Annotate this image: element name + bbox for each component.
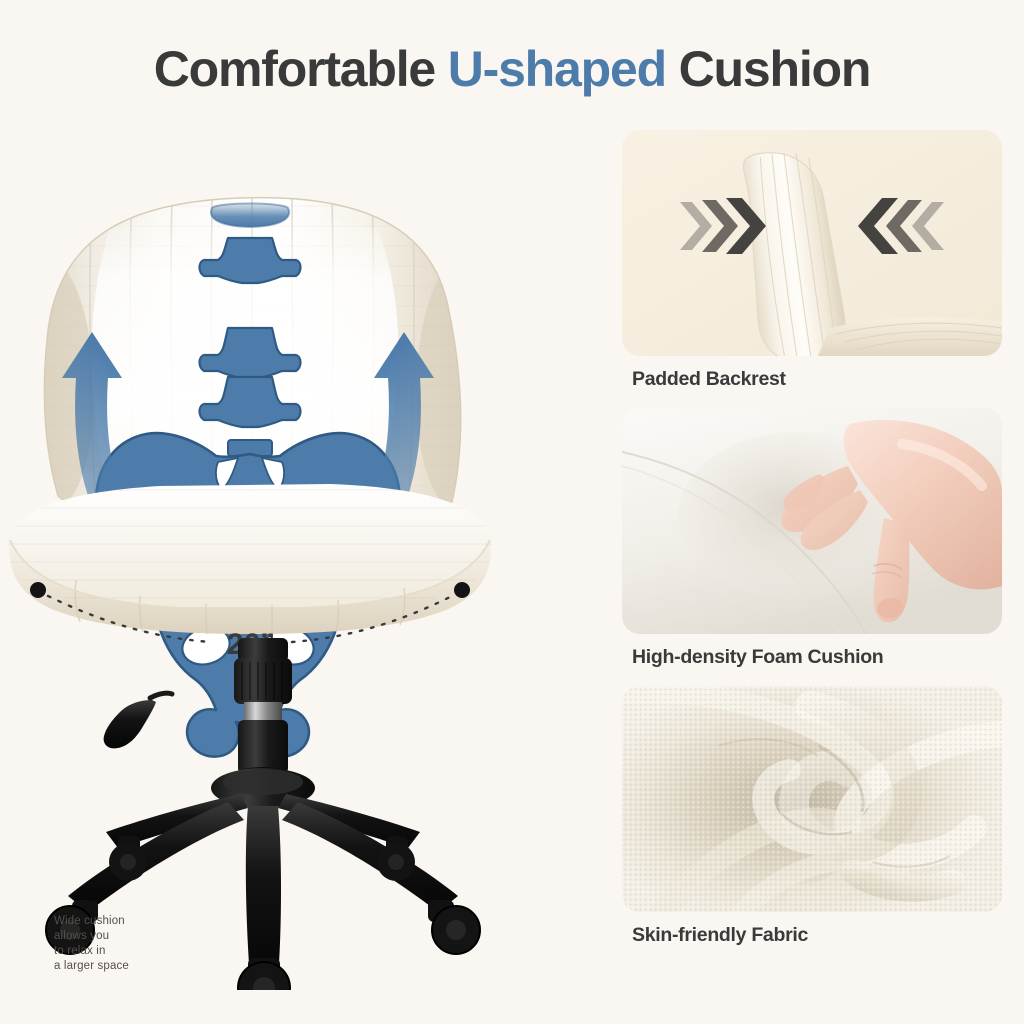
- feature-skin-friendly-fabric[interactable]: Skin-friendly Fabric: [622, 686, 1002, 947]
- foam-cushion-caption: High-density Foam Cushion: [622, 646, 1002, 669]
- caster: [238, 958, 290, 990]
- note-line-3: to relax in: [54, 944, 129, 959]
- fabric-caption: Skin-friendly Fabric: [622, 924, 1002, 947]
- product-feature-page: Comfortable U-shaped Cushion: [0, 0, 1024, 1024]
- padded-backrest-caption: Padded Backrest: [622, 368, 1002, 391]
- height-adjust-lever[interactable]: [104, 693, 172, 748]
- fabric-weave-texture: [622, 686, 1002, 912]
- note-line-2: allows you: [54, 929, 129, 944]
- caster: [428, 900, 480, 954]
- base-leg: [246, 806, 281, 978]
- title-part-1: Comfortable: [154, 41, 448, 97]
- foam-cushion-image: [622, 408, 1002, 634]
- chair-seat: [0, 484, 500, 634]
- wide-cushion-note: Wide cushion allows you to relax in a la…: [54, 914, 129, 974]
- page-title: Comfortable U-shaped Cushion: [0, 40, 1024, 98]
- feature-foam-cushion[interactable]: High-density Foam Cushion: [622, 408, 1002, 669]
- title-part-2: Cushion: [666, 41, 870, 97]
- feature-panel-list: Padded Backrest: [622, 130, 1002, 964]
- note-line-1: Wide cushion: [54, 914, 129, 929]
- note-line-4: a larger space: [54, 959, 129, 974]
- fabric-texture-image: [622, 686, 1002, 912]
- padded-backrest-image: [622, 130, 1002, 356]
- hero-chair-image: 26”: [0, 110, 610, 990]
- title-accent: U-shaped: [448, 41, 666, 97]
- feature-padded-backrest[interactable]: Padded Backrest: [622, 130, 1002, 391]
